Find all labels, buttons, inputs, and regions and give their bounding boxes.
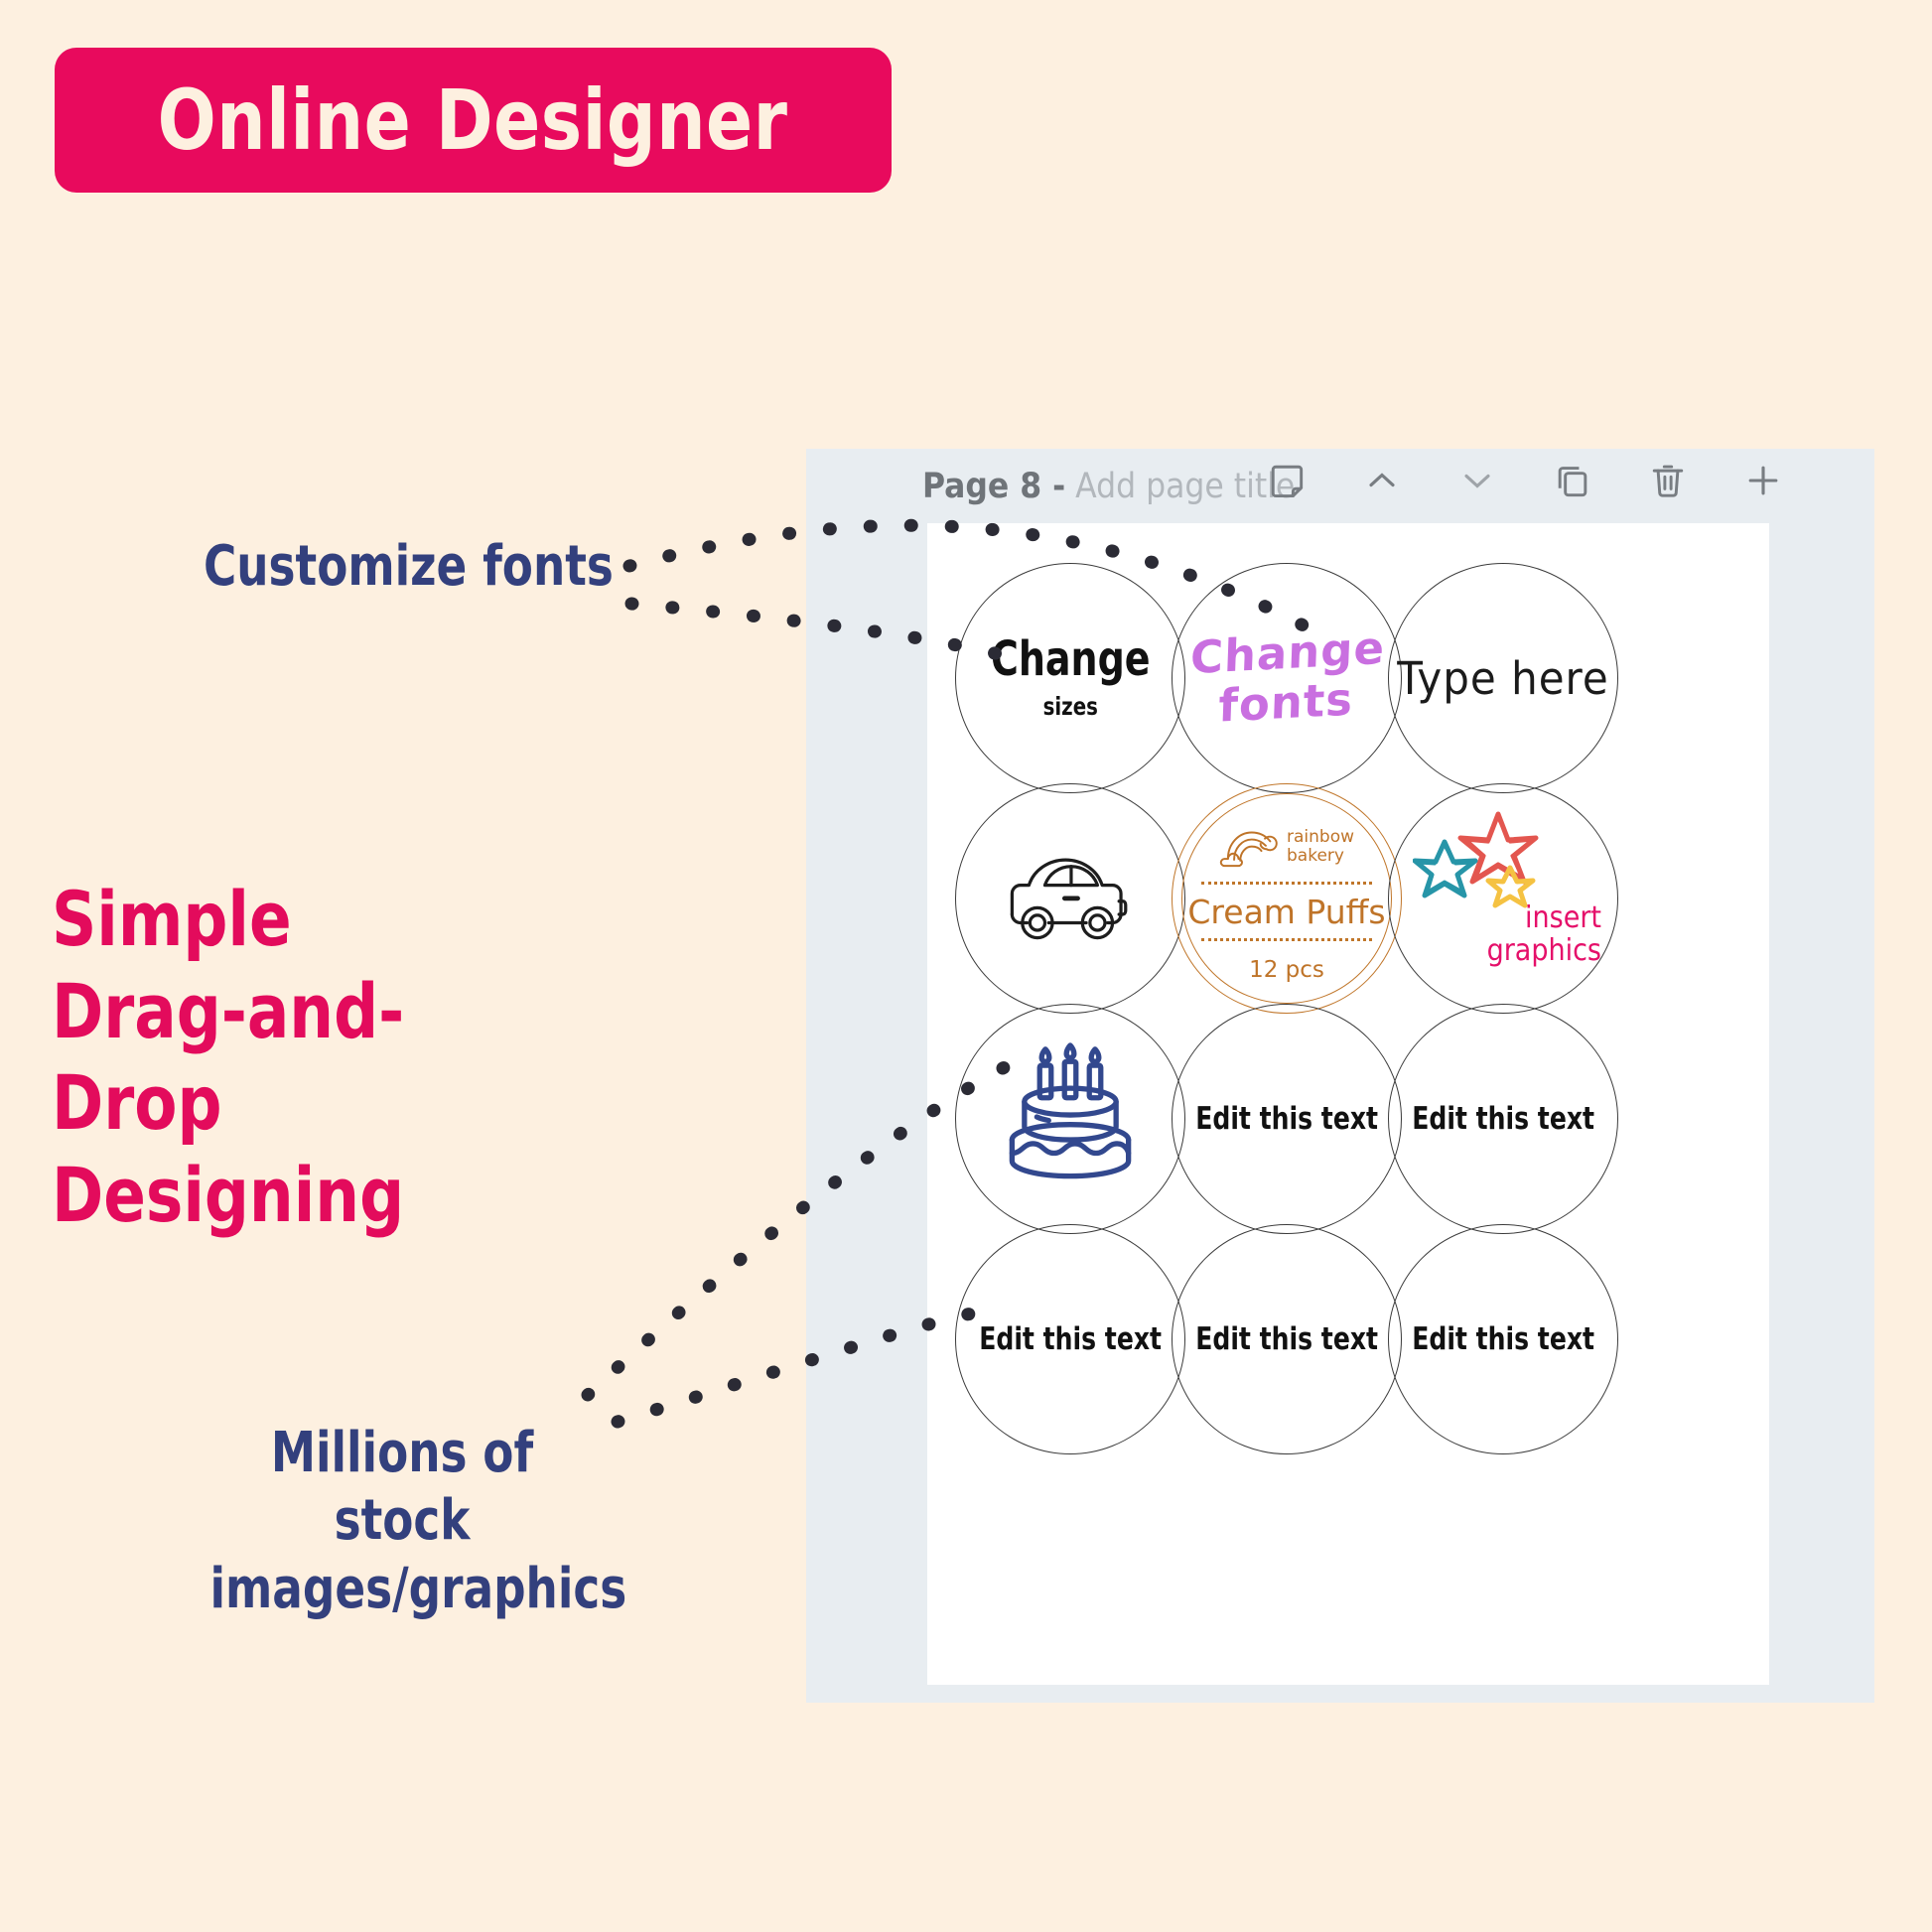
insert-graphics-line-2: graphics <box>1487 935 1601 967</box>
sticker-edit-text[interactable]: Edit this text <box>955 1224 1185 1454</box>
headline-line-1: Simple <box>52 874 563 966</box>
bakery-divider-bottom <box>1201 938 1372 941</box>
sticker-insert-graphics[interactable]: insert graphics <box>1388 783 1618 1014</box>
sticker-type-here[interactable]: Type here <box>1388 563 1618 793</box>
sticker-edit-text[interactable]: Edit this text <box>1388 1004 1618 1234</box>
bakery-divider-top <box>1201 882 1372 885</box>
sticker-edit-text[interactable]: Edit this text <box>1388 1224 1618 1454</box>
headline-line-2: Drag-and-Drop <box>52 966 563 1150</box>
plus-icon[interactable] <box>1741 459 1785 502</box>
page-title-placeholder: Add page title <box>1075 467 1295 506</box>
sticker-text-main: Change <box>1189 622 1386 683</box>
chevron-up-icon[interactable] <box>1360 459 1404 502</box>
sticker-text-main: Type here <box>1397 652 1608 705</box>
sticker-text-main: Edit this text <box>1412 1101 1594 1137</box>
note-icon[interactable] <box>1265 459 1309 502</box>
sticker-text-main: Edit this text <box>979 1321 1162 1357</box>
banner-title: Online Designer <box>158 71 788 169</box>
sticker-edit-text[interactable]: Edit this text <box>1172 1224 1402 1454</box>
page-number-text: Page 8 - <box>922 467 1065 506</box>
sticker-bakery-label[interactable]: rainbow bakery Cream Puffs 12 pcs <box>1172 783 1402 1014</box>
bakery-brand-line-2: bakery <box>1287 847 1354 866</box>
duplicate-icon[interactable] <box>1551 459 1594 502</box>
designer-panel: Page 8 - Add page title <box>806 449 1874 1703</box>
chevron-down-icon[interactable] <box>1455 459 1499 502</box>
callout-millions-of-stock: Millions of stock images/graphics <box>210 1420 595 1623</box>
rainbow-cloud-icon <box>1219 820 1281 873</box>
sticker-change-fonts[interactable]: Change fonts <box>1172 563 1402 793</box>
sticker-text-sub: sizes <box>991 692 1151 721</box>
callout-stock-line-1: Millions of stock <box>210 1420 595 1556</box>
bakery-product-title: Cream Puffs <box>1187 893 1385 931</box>
bakery-brand-line-1: rainbow <box>1287 828 1354 847</box>
sticker-text-main: Edit this text <box>1412 1321 1594 1357</box>
page-title-label[interactable]: Page 8 - Add page title <box>922 467 1295 506</box>
sticker-text-main: Edit this text <box>1195 1321 1378 1357</box>
bakery-quantity: 12 pcs <box>1249 957 1324 983</box>
sticker-edit-text[interactable]: Edit this text <box>1172 1004 1402 1234</box>
callout-stock-line-2: images/graphics <box>210 1556 595 1623</box>
sticker-text-main: Change <box>991 635 1151 683</box>
online-designer-banner: Online Designer <box>55 48 892 193</box>
sticker-change-sizes[interactable]: Change sizes <box>955 563 1185 793</box>
sticker-car[interactable] <box>955 783 1185 1014</box>
sticker-cake[interactable] <box>955 1004 1185 1234</box>
design-sheet: Change sizes Change fonts Type here <box>927 523 1769 1685</box>
sticker-text-main: Edit this text <box>1195 1101 1378 1137</box>
insert-graphics-line-1: insert <box>1487 902 1601 934</box>
birthday-cake-icon <box>988 1042 1153 1196</box>
toolbar-icon-group <box>1265 459 1785 502</box>
callout-customize-fonts: Customize fonts <box>204 534 614 599</box>
headline-drag-and-drop: Simple Drag-and-Drop Designing <box>52 874 563 1242</box>
car-icon <box>995 845 1146 953</box>
headline-line-3: Designing <box>52 1150 563 1242</box>
trash-icon[interactable] <box>1646 459 1690 502</box>
